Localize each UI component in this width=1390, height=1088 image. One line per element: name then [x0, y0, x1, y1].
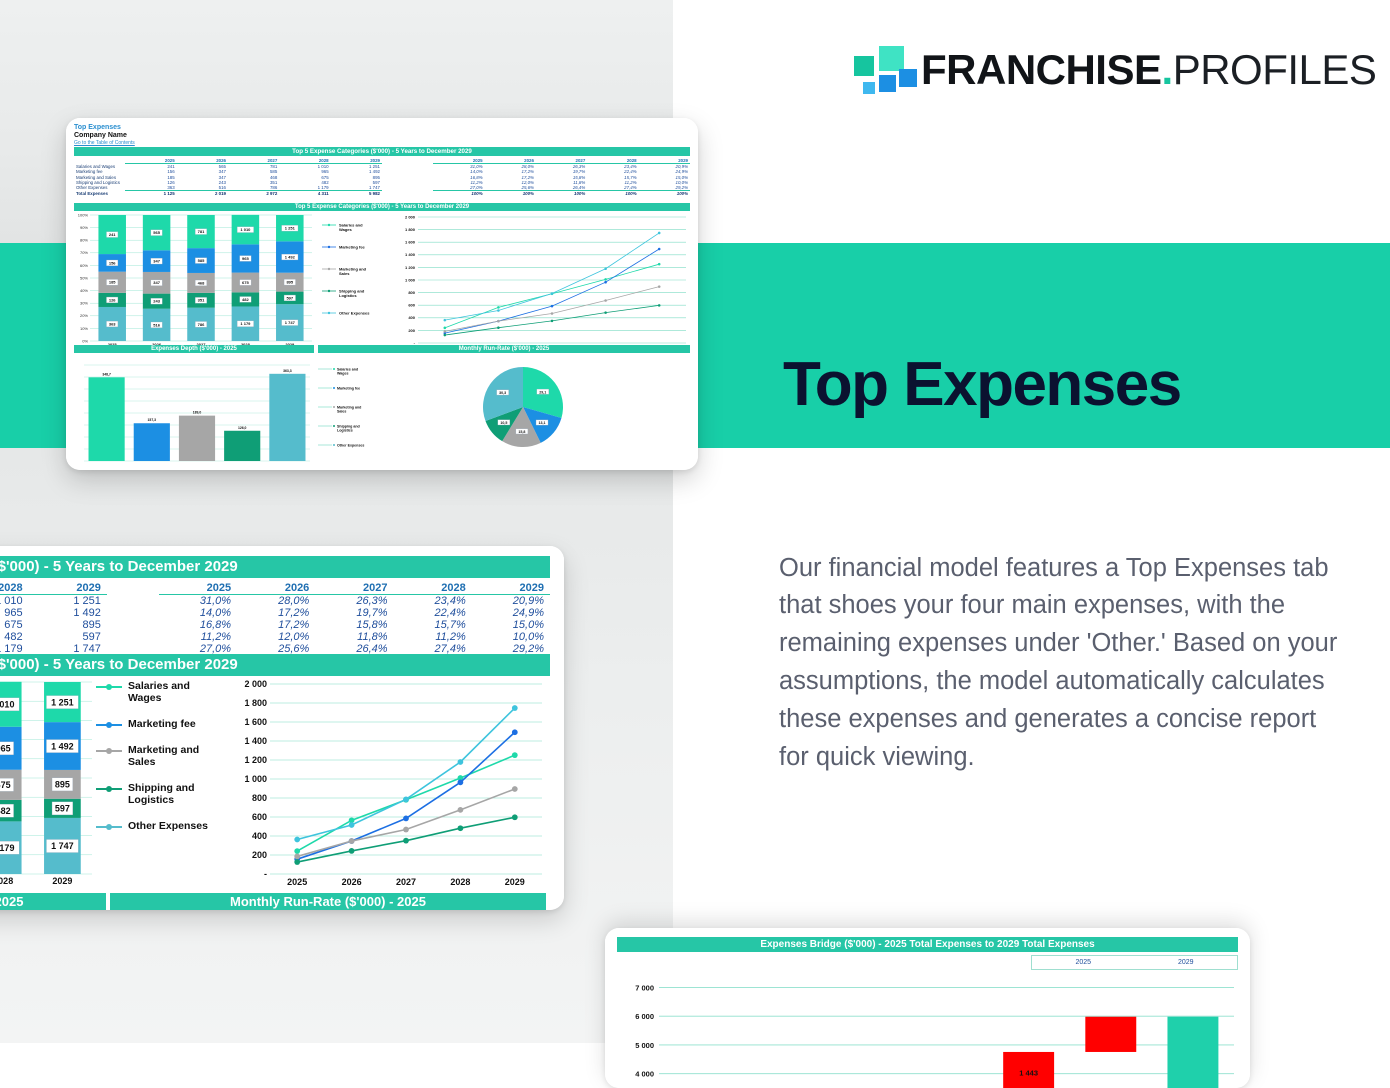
- svg-text:Other Expenses: Other Expenses: [339, 310, 370, 315]
- svg-text:13,1: 13,1: [539, 421, 546, 425]
- svg-text:675: 675: [0, 780, 11, 790]
- svg-text:781: 781: [198, 229, 205, 234]
- table-year-header: 2029: [472, 582, 550, 595]
- legend-item: Marketing and Sales: [96, 744, 226, 768]
- svg-text:786: 786: [198, 322, 205, 327]
- legend-item: Shipping and Logistics: [96, 782, 226, 806]
- svg-text:965: 965: [0, 743, 11, 753]
- bridge-chart-screenshot: Expenses Bridge ($'000) - 2025 Total Exp…: [605, 928, 1250, 1088]
- table-row: 34746867589516,8%17,2%15,8%15,7%15,0%: [0, 619, 550, 631]
- svg-text:4 000: 4 000: [635, 1070, 654, 1079]
- svg-text:1 800: 1 800: [244, 698, 267, 708]
- svg-text:482: 482: [242, 297, 249, 302]
- table-total-row: Total Expenses1 1252 0192 9724 3115 9821…: [74, 191, 690, 197]
- svg-text:675: 675: [242, 280, 249, 285]
- legend-swatch: [96, 750, 122, 752]
- svg-text:40%: 40%: [80, 288, 88, 293]
- svg-text:30,3: 30,3: [499, 391, 506, 395]
- band-expense-categories-2: Top 5 Expense Categories ($'000) - 5 Yea…: [74, 203, 690, 211]
- svg-text:565: 565: [153, 230, 160, 235]
- svg-text:Other Expenses: Other Expenses: [337, 443, 364, 447]
- svg-text:2026: 2026: [342, 877, 362, 887]
- svg-text:351: 351: [198, 298, 205, 303]
- svg-text:895: 895: [55, 780, 70, 790]
- svg-text:1 747: 1 747: [51, 841, 74, 851]
- svg-text:200: 200: [252, 850, 267, 860]
- logo-squares-icon: [851, 42, 907, 98]
- bridge-legend-item: 2025: [1032, 956, 1135, 969]
- band-monthly-run-rate-bl: Monthly Run-Rate ($'000) - 2025: [110, 893, 546, 910]
- svg-text:20%: 20%: [80, 313, 88, 318]
- legend-item: Other Expenses: [96, 820, 226, 832]
- legend-item: Marketing fee: [96, 718, 226, 730]
- svg-text:241: 241: [109, 232, 116, 237]
- svg-text:90%: 90%: [80, 225, 88, 230]
- svg-text:400: 400: [252, 831, 267, 841]
- svg-text:1 400: 1 400: [405, 252, 416, 257]
- svg-text:1 747: 1 747: [285, 320, 296, 325]
- svg-text:80%: 80%: [80, 238, 88, 243]
- monthly-run-rate-pie-chart: 29,113,115,810,530,3Salaries andWagesMar…: [318, 355, 690, 465]
- svg-text:1 800: 1 800: [405, 227, 416, 232]
- table-row: 24335148259711,2%12,0%11,8%11,2%10,0%: [0, 631, 550, 643]
- svg-text:1 400: 1 400: [244, 736, 267, 746]
- svg-text:2029: 2029: [505, 877, 525, 887]
- legend-swatch: [96, 724, 122, 726]
- stacked-bar-chart-bl: 3631261851562412025516243347347565202678…: [0, 680, 94, 892]
- band-expenses-bridge: Expenses Bridge ($'000) - 2025 Total Exp…: [617, 937, 1238, 952]
- stacked-bar-chart-main: 100%90%80%70%60%50%40%30%20%10%0%3631261…: [74, 213, 314, 353]
- svg-text:895: 895: [286, 280, 293, 285]
- band-expense-categories: Top 5 Expense Categories ($'000) - 5 Yea…: [74, 147, 690, 156]
- line-chart-main: -2004006008001 0001 2001 4001 6001 8002 …: [318, 213, 690, 353]
- bottom-left-screenshot-card[interactable]: Top 5 Expense Categories ($'000) - 5 Yea…: [0, 546, 564, 910]
- svg-text:Wages: Wages: [339, 227, 353, 232]
- svg-text:Sales: Sales: [337, 410, 346, 414]
- svg-text:800: 800: [252, 793, 267, 803]
- svg-text:1 600: 1 600: [405, 240, 416, 245]
- svg-text:965: 965: [242, 256, 249, 261]
- svg-text:1 492: 1 492: [51, 741, 74, 751]
- expenses-bridge-waterfall-chart: 7 0006 0005 0004 0007064711 443: [617, 972, 1238, 1088]
- expense-table-bl: 2026202720282029202520262027202820295657…: [0, 582, 550, 650]
- logo-wordmark: FRANCHISE.PROFILES: [921, 49, 1376, 91]
- svg-text:1 200: 1 200: [244, 755, 267, 765]
- legend-swatch: [96, 788, 122, 790]
- table-year-header: 2029: [29, 582, 107, 595]
- svg-text:363: 363: [109, 321, 116, 326]
- table-year-header: 2027: [315, 582, 393, 595]
- svg-text:1 251: 1 251: [51, 697, 74, 707]
- logo-text-light: PROFILES: [1173, 46, 1377, 93]
- svg-text:2 000: 2 000: [405, 214, 416, 219]
- bottom-right-screenshot-card[interactable]: Expenses Bridge ($'000) - 2025 Total Exp…: [605, 928, 1250, 1088]
- svg-text:Logistics: Logistics: [339, 293, 357, 298]
- bridge-legend: 20252029: [1031, 955, 1238, 970]
- legend-label: Marketing and Sales: [128, 744, 226, 768]
- spreadsheet-screenshot: Top Expenses Company Name Go to the Tabl…: [66, 118, 698, 470]
- description-paragraph: Our financial model features a Top Expen…: [779, 550, 1345, 778]
- svg-text:157,3: 157,3: [148, 418, 157, 422]
- svg-text:2027: 2027: [396, 877, 416, 887]
- table-of-contents-link[interactable]: Go to the Table of Contents: [74, 140, 135, 146]
- main-screenshot-card[interactable]: Top Expenses Company Name Go to the Tabl…: [66, 118, 698, 470]
- svg-text:1 600: 1 600: [244, 717, 267, 727]
- svg-text:1 179: 1 179: [240, 321, 251, 326]
- svg-text:1 179: 1 179: [0, 843, 14, 853]
- svg-text:15,8: 15,8: [518, 430, 525, 434]
- svg-text:200: 200: [408, 328, 415, 333]
- brand-logo: FRANCHISE.PROFILES: [851, 40, 1351, 100]
- legend-item: Salaries and Wages: [96, 680, 226, 704]
- svg-text:1 000: 1 000: [244, 774, 267, 784]
- svg-text:2029: 2029: [52, 876, 72, 886]
- svg-text:348,7: 348,7: [102, 372, 111, 376]
- expense-table: 2025202620272028202920252026202720282029…: [74, 158, 690, 201]
- svg-text:516: 516: [153, 322, 160, 327]
- svg-text:2028: 2028: [0, 876, 13, 886]
- svg-text:2025: 2025: [287, 877, 307, 887]
- spreadsheet-screenshot-zoomed: Top 5 Expense Categories ($'000) - 5 Yea…: [0, 546, 564, 910]
- svg-text:Logistics: Logistics: [337, 429, 353, 433]
- svg-text:243: 243: [153, 299, 160, 304]
- table-year-header: 2028: [394, 582, 472, 595]
- band-expenses-depth-bl: ses Depth ($'000) - 2025: [0, 893, 106, 910]
- band-expense-categories-bl-2: Top 5 Expense Categories ($'000) - 5 Yea…: [0, 654, 550, 676]
- svg-text:126,0: 126,0: [238, 426, 247, 430]
- svg-text:1 000: 1 000: [405, 277, 416, 282]
- logo-text-bold: FRANCHISE: [921, 46, 1162, 93]
- svg-text:70%: 70%: [80, 250, 88, 255]
- svg-text:Marketing fee: Marketing fee: [339, 244, 366, 249]
- svg-text:1 251: 1 251: [285, 226, 296, 231]
- background-right-upper-panel: [673, 0, 1390, 243]
- svg-text:29,1: 29,1: [539, 390, 546, 394]
- svg-text:185: 185: [109, 280, 116, 285]
- svg-text:363,3: 363,3: [283, 369, 292, 373]
- svg-text:189,0: 189,0: [193, 411, 202, 415]
- svg-text:347: 347: [153, 259, 160, 264]
- svg-text:1 492: 1 492: [285, 254, 296, 259]
- svg-text:468: 468: [198, 280, 205, 285]
- legend-label: Other Expenses: [128, 820, 208, 832]
- svg-text:0%: 0%: [82, 338, 88, 343]
- svg-text:126: 126: [109, 297, 116, 302]
- svg-text:-: -: [264, 869, 267, 879]
- svg-text:6 000: 6 000: [635, 1012, 654, 1021]
- table-year-header: 2028: [0, 582, 29, 595]
- svg-text:7 000: 7 000: [635, 983, 654, 992]
- bridge-legend-item: 2029: [1135, 956, 1238, 969]
- page-title: Top Expenses: [783, 354, 1181, 416]
- svg-text:600: 600: [252, 812, 267, 822]
- legend-swatch: [96, 686, 122, 688]
- svg-text:Marketing fee: Marketing fee: [337, 386, 360, 390]
- band-expense-categories-bl: Top 5 Expense Categories ($'000) - 5 Yea…: [0, 556, 550, 578]
- svg-text:156: 156: [109, 260, 116, 265]
- chart-legend-bl: Salaries and WagesMarketing feeMarketing…: [96, 680, 226, 880]
- svg-text:1 443: 1 443: [1019, 1069, 1038, 1078]
- legend-label: Salaries and Wages: [128, 680, 226, 704]
- svg-text:347: 347: [153, 280, 160, 285]
- band-expenses-depth: Expenses Depth ($'000) - 2025: [74, 345, 314, 353]
- svg-text:597: 597: [55, 804, 70, 814]
- legend-label: Marketing fee: [128, 718, 196, 730]
- table-year-header: 2025: [159, 582, 237, 595]
- band-monthly-run-rate: Monthly Run-Rate ($'000) - 2025: [318, 345, 690, 353]
- svg-text:585: 585: [198, 258, 205, 263]
- svg-text:5 000: 5 000: [635, 1041, 654, 1050]
- svg-text:2028: 2028: [450, 877, 470, 887]
- svg-text:482: 482: [0, 806, 11, 816]
- table-year-header: 2026: [237, 582, 315, 595]
- table-row: 5657811 0101 25131,0%28,0%26,3%23,4%20,9…: [0, 595, 550, 608]
- table-row: 3475859651 49214,0%17,2%19,7%22,4%24,9%: [0, 607, 550, 619]
- svg-text:600: 600: [408, 303, 415, 308]
- svg-text:10,5: 10,5: [500, 421, 507, 425]
- svg-text:1 010: 1 010: [240, 227, 251, 232]
- svg-text:597: 597: [286, 295, 293, 300]
- svg-text:1 200: 1 200: [405, 265, 416, 270]
- svg-text:30%: 30%: [80, 301, 88, 306]
- svg-text:2 000: 2 000: [244, 680, 267, 689]
- legend-swatch: [96, 826, 122, 828]
- expenses-depth-bar-chart: 348,7157,3189,0126,0363,3: [74, 355, 314, 465]
- svg-text:50%: 50%: [80, 275, 88, 280]
- svg-text:1 010: 1 010: [0, 700, 14, 710]
- line-chart-bl: -2004006008001 0001 2001 4001 6001 8002 …: [226, 680, 546, 892]
- svg-text:800: 800: [408, 290, 415, 295]
- logo-text-dot: .: [1162, 46, 1173, 93]
- svg-text:Sales: Sales: [339, 271, 350, 276]
- svg-text:60%: 60%: [80, 263, 88, 268]
- svg-text:Wages: Wages: [337, 372, 348, 376]
- svg-text:100%: 100%: [78, 213, 89, 217]
- legend-label: Shipping and Logistics: [128, 782, 226, 806]
- svg-text:400: 400: [408, 315, 415, 320]
- svg-text:10%: 10%: [80, 326, 88, 331]
